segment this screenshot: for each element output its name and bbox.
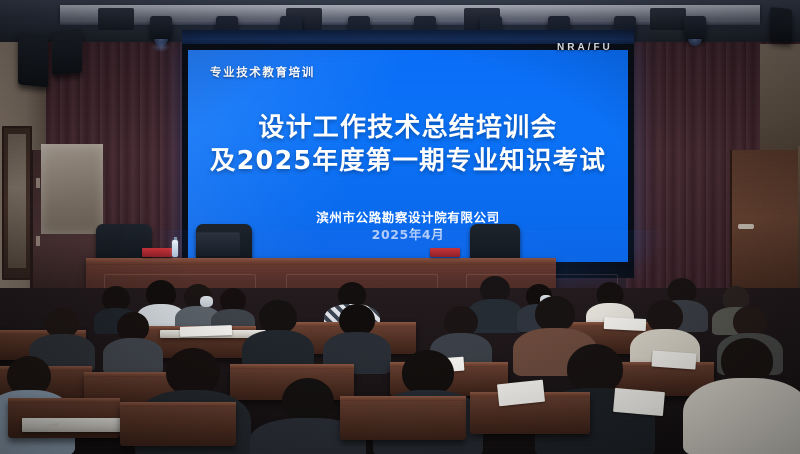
presidium-chair-3 [470,224,520,262]
slide-date: 2025年4月 [188,226,628,243]
led-screen: 专业技术教育培训 设计工作技术总结培训会 及2025年度第一期专业知识考试 滨州… [188,50,628,262]
slide-kicker: 专业技术教育培训 [210,64,315,80]
speaker-right [770,7,792,43]
paper-c5 [613,388,665,416]
nameplate-1 [142,248,172,257]
door-handle-icon[interactable] [738,224,754,229]
light-glow-1 [152,42,170,52]
speaker-left-2 [52,29,82,76]
right-wall-panel [760,44,800,154]
attendee-r3-5 [700,338,794,454]
attendee-r2-3 [250,300,306,372]
left-wall-window [2,126,32,280]
desk-front [22,418,122,432]
door-hinge-lower [36,236,40,246]
nameplate-2 [430,248,460,257]
slide-title-line1: 设计工作技术总结培训会 [258,113,557,143]
slide-organization: 滨州市公路勘察设计院有限公司 [188,209,628,226]
watermark-text: NRA/FU [557,42,613,53]
stage-light-9 [684,16,706,42]
bench-c3 [340,396,466,440]
speaker-left [18,32,48,87]
paper-a2 [180,325,232,337]
slide-title-line2: 及2025年度第一期专业知识考试 [188,145,628,178]
laptop-on-table [196,232,241,256]
door-right[interactable] [730,150,798,302]
ceiling-fixture-box-1 [98,8,134,30]
water-bottle-1 [172,240,178,257]
door-hinge-upper [36,178,40,188]
bench-c2 [120,402,236,446]
door-frosted-panel [41,144,103,234]
paper-b5 [651,350,696,369]
window-glass [8,134,26,268]
conference-hall-photo: 专业技术教育培训 设计工作技术总结培训会 及2025年度第一期专业知识考试 滨州… [0,0,800,454]
attendee-r3-6 [264,378,352,454]
table-edge [86,258,556,265]
ceiling-fixture-box-4 [650,8,686,30]
stage-light-1 [150,16,172,42]
slide-title: 设计工作技术总结培训会 及2025年度第一期专业知识考试 [188,112,628,178]
slide-footer: 滨州市公路勘察设计院有限公司 2025年4月 [188,209,628,243]
attendee-r2-4 [330,304,384,372]
